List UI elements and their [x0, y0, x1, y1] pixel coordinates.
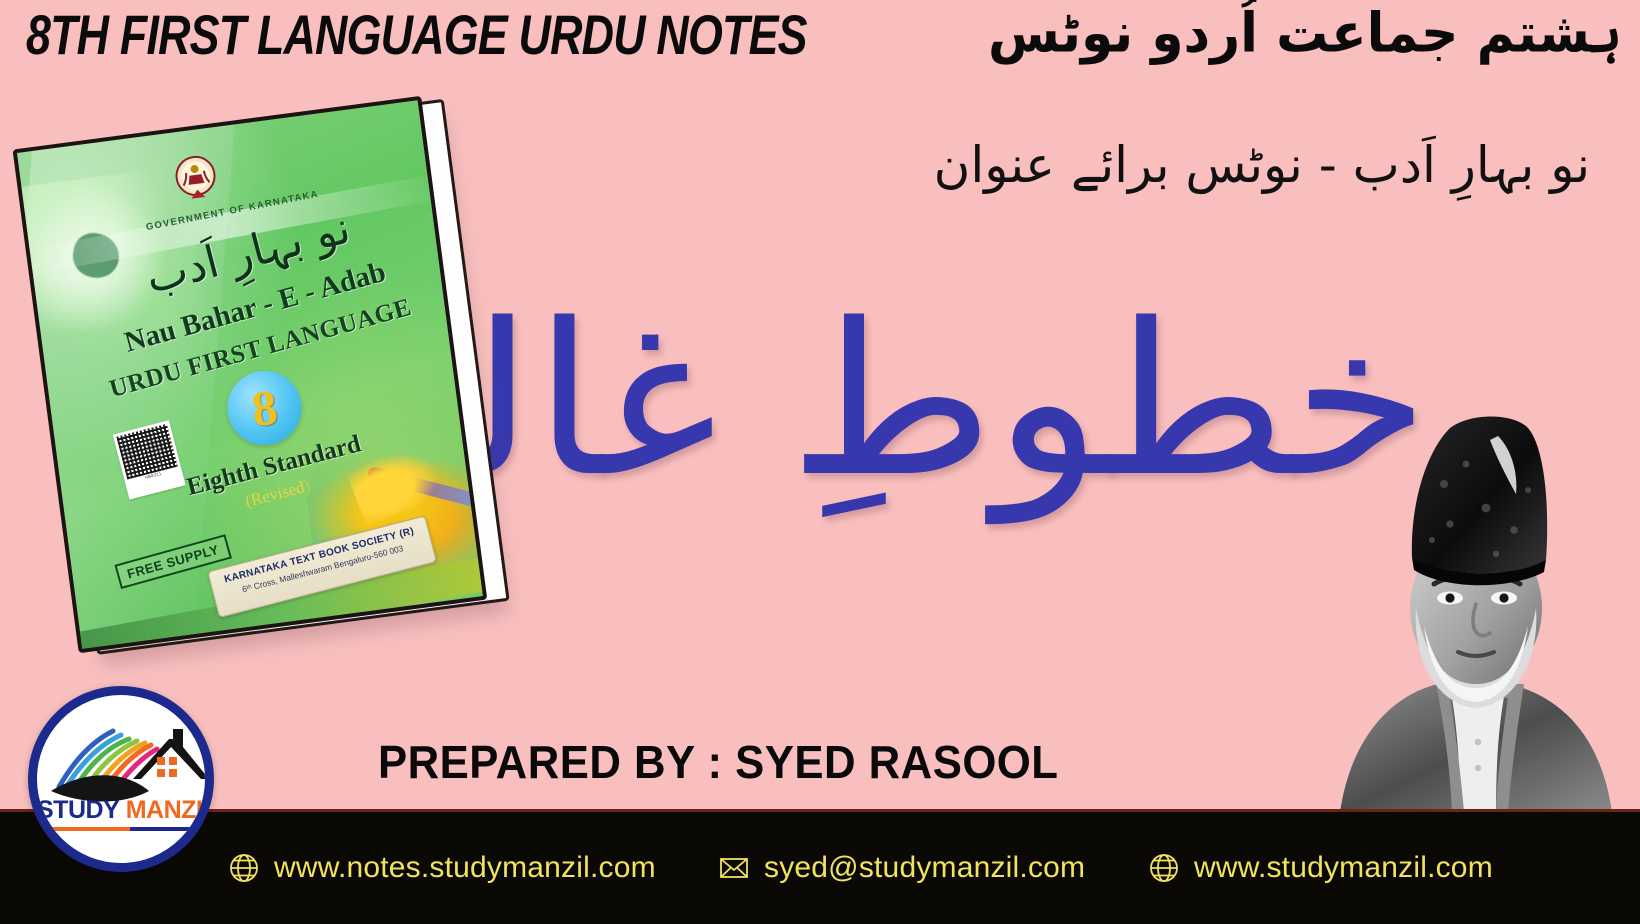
footer-item-website-notes[interactable]: www.notes.studymanzil.com — [228, 851, 656, 885]
logo-wordmark: STUDY MANZIL — [37, 798, 205, 823]
globe-icon — [1148, 852, 1180, 884]
page-title-urdu: ہشتم جماعت اُردو نوٹس — [988, 2, 1622, 65]
footer-label-website-notes: www.notes.studymanzil.com — [274, 851, 656, 885]
footer-item-website-main[interactable]: www.studymanzil.com — [1148, 851, 1493, 885]
textbook-image: GOVERNMENT OF KARNATAKA نو بہارِ اَدب Na… — [44, 120, 534, 680]
poster-canvas: 8TH FIRST LANGUAGE URDU NOTES ہشتم جماعت… — [0, 0, 1640, 924]
footer-bar: www.notes.studymanzil.com syed@studymanz… — [0, 809, 1640, 924]
globe-icon — [228, 852, 260, 884]
logo-word-manzil: MANZIL — [126, 796, 214, 824]
grade-badge: 8 — [223, 366, 306, 449]
envelope-icon — [718, 852, 750, 884]
footer-item-email[interactable]: syed@studymanzil.com — [718, 851, 1085, 885]
page-title-english: 8TH FIRST LANGUAGE URDU NOTES — [26, 6, 807, 65]
study-manzil-logo[interactable]: STUDY MANZIL — [28, 686, 214, 872]
footer-label-website-main: www.studymanzil.com — [1194, 851, 1493, 885]
logo-underline — [49, 827, 211, 831]
mirza-ghalib-portrait — [1300, 412, 1640, 812]
page-subtitle-urdu: نو بہارِ اَدب - نوٹس برائے عنوان — [934, 136, 1590, 194]
grade-number: 8 — [223, 366, 306, 449]
footer-label-email: syed@studymanzil.com — [764, 851, 1085, 885]
book-cover: GOVERNMENT OF KARNATAKA نو بہارِ اَدب Na… — [13, 96, 488, 653]
logo-artwork-icon — [37, 713, 205, 809]
karnataka-emblem-icon — [171, 151, 222, 210]
logo-word-study: STUDY — [37, 796, 119, 824]
prepared-by-text: PREPARED BY : SYED RASOOL — [378, 735, 1058, 789]
